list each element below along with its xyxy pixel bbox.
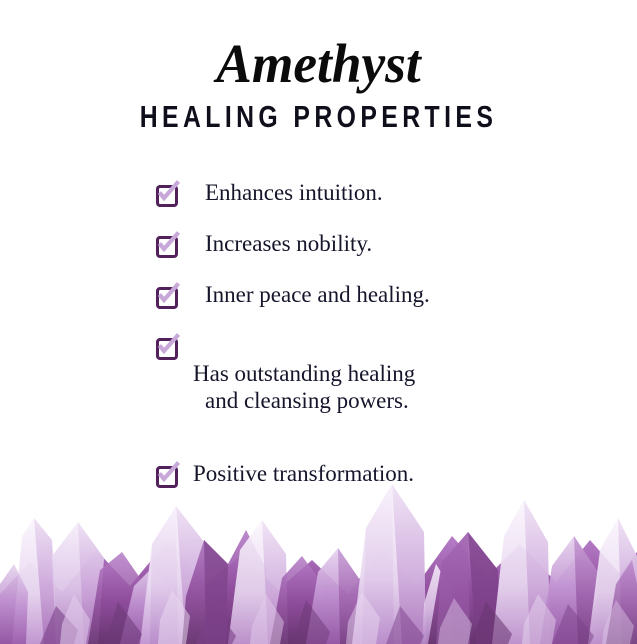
list-item-label: Inner peace and healing. bbox=[205, 282, 430, 308]
poster-header: Amethyst HEALING PROPERTIES bbox=[0, 0, 637, 134]
checkbox-checked-icon bbox=[155, 235, 177, 257]
list-item: Increases nobility. bbox=[155, 231, 575, 257]
checkbox-checked-icon bbox=[155, 337, 177, 359]
page-title: Amethyst bbox=[10, 34, 628, 94]
list-item-label: Increases nobility. bbox=[205, 231, 372, 257]
page-subtitle: HEALING PROPERTIES bbox=[64, 100, 574, 134]
list-item-label: Enhances intuition. bbox=[205, 180, 383, 206]
amethyst-crystal-cluster-image bbox=[0, 444, 637, 644]
list-item-label-line1: Has outstanding healing bbox=[193, 361, 415, 386]
list-item-label-line2: and cleansing powers. bbox=[193, 387, 415, 414]
list-item-label-multiline: Has outstanding healing and cleansing po… bbox=[193, 333, 415, 441]
list-item: Enhances intuition. bbox=[155, 180, 575, 206]
checkbox-checked-icon bbox=[155, 286, 177, 308]
amethyst-healing-properties-poster: Amethyst HEALING PROPERTIES Enhances int… bbox=[0, 0, 637, 644]
list-item: Inner peace and healing. bbox=[155, 282, 575, 308]
checkbox-checked-icon bbox=[155, 184, 177, 206]
list-item: Has outstanding healing and cleansing po… bbox=[155, 333, 575, 441]
